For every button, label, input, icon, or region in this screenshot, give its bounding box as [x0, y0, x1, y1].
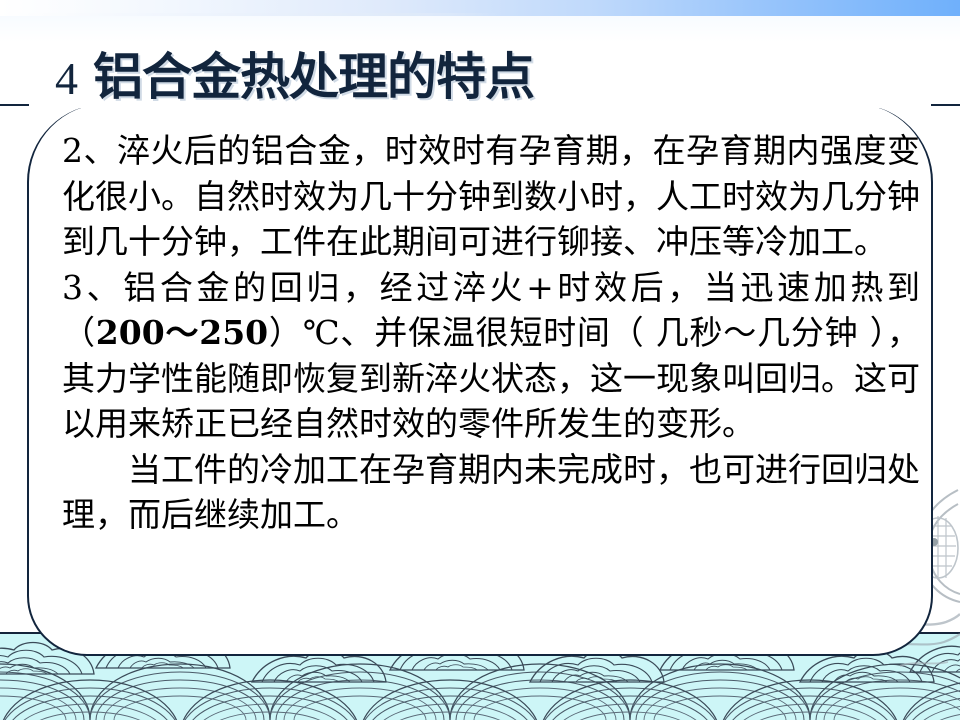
title-number: 4 — [55, 48, 78, 110]
paragraph-item-2: 2、淬火后的铝合金，时效时有孕育期，在孕育期内强度变化很小。自然时效为几十分钟到… — [62, 128, 920, 265]
slide-canvas: 4 铝合金热处理的特点 2、淬火后的铝合金，时效时有孕育期，在孕育期内强度变化很… — [0, 0, 960, 720]
temperature-range: 200～250 — [96, 313, 268, 352]
content-panel-top-mask — [29, 104, 931, 108]
paragraph-closing: 当工件的冷加工在孕育期内未完成时，也可进行回归处理，而后继续加工。 — [62, 447, 920, 538]
body-text-block: 2、淬火后的铝合金，时效时有孕育期，在孕育期内强度变化很小。自然时效为几十分钟到… — [62, 128, 920, 538]
top-fade — [0, 16, 960, 42]
page-title: 4 铝合金热处理的特点 — [0, 50, 960, 112]
title-label: 铝合金热处理的特点 — [93, 46, 534, 108]
paragraph-item-3: 3、铝合金的回归，经过淬火+时效后，当迅速加热到（200～250）℃、并保温很短… — [62, 265, 920, 447]
